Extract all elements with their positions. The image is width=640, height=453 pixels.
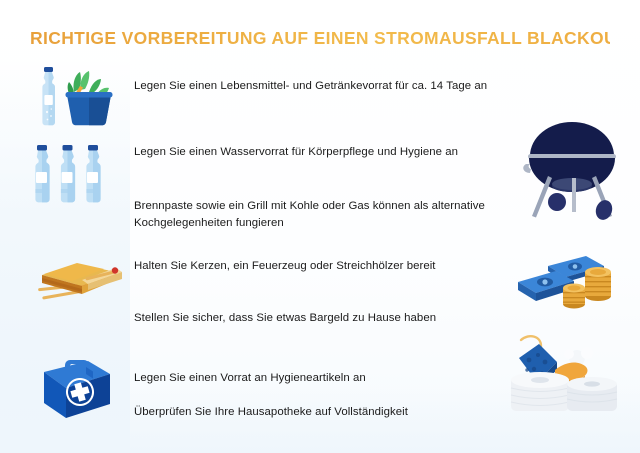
kettle-barbecue-grill-illustration xyxy=(516,112,628,224)
list-item: Überprüfen Sie Ihre Hausapotheke auf Vol… xyxy=(134,404,512,421)
list-item: Legen Sie einen Wasservorrat für Körperp… xyxy=(134,144,494,161)
water-bottle-and-grocery-basket-icon xyxy=(30,62,128,128)
three-water-bottles-icon xyxy=(30,142,124,204)
list-item: Stellen Sie sicher, dass Sie etwas Barge… xyxy=(134,310,496,327)
infographic-poster: RICHTIGE VORBEREITUNG AUF EINEN STROMAUS… xyxy=(0,0,640,453)
cash-banknotes-and-coins-illustration xyxy=(508,252,626,318)
list-item: Legen Sie einen Vorrat an Hygieneartikel… xyxy=(134,370,506,387)
list-item: Legen Sie einen Lebensmittel- und Geträn… xyxy=(134,78,506,95)
matchbox-with-matches-icon xyxy=(30,250,126,306)
toilet-paper-sponge-and-soap-illustration xyxy=(505,330,631,418)
page-title: RICHTIGE VORBEREITUNG AUF EINEN STROMAUS… xyxy=(30,27,610,49)
list-item: Halten Sie Kerzen, ein Feuerzeug oder St… xyxy=(134,258,496,275)
first-aid-kit-icon xyxy=(30,348,120,422)
list-item: Brennpaste sowie ein Grill mit Kohle ode… xyxy=(134,198,512,231)
